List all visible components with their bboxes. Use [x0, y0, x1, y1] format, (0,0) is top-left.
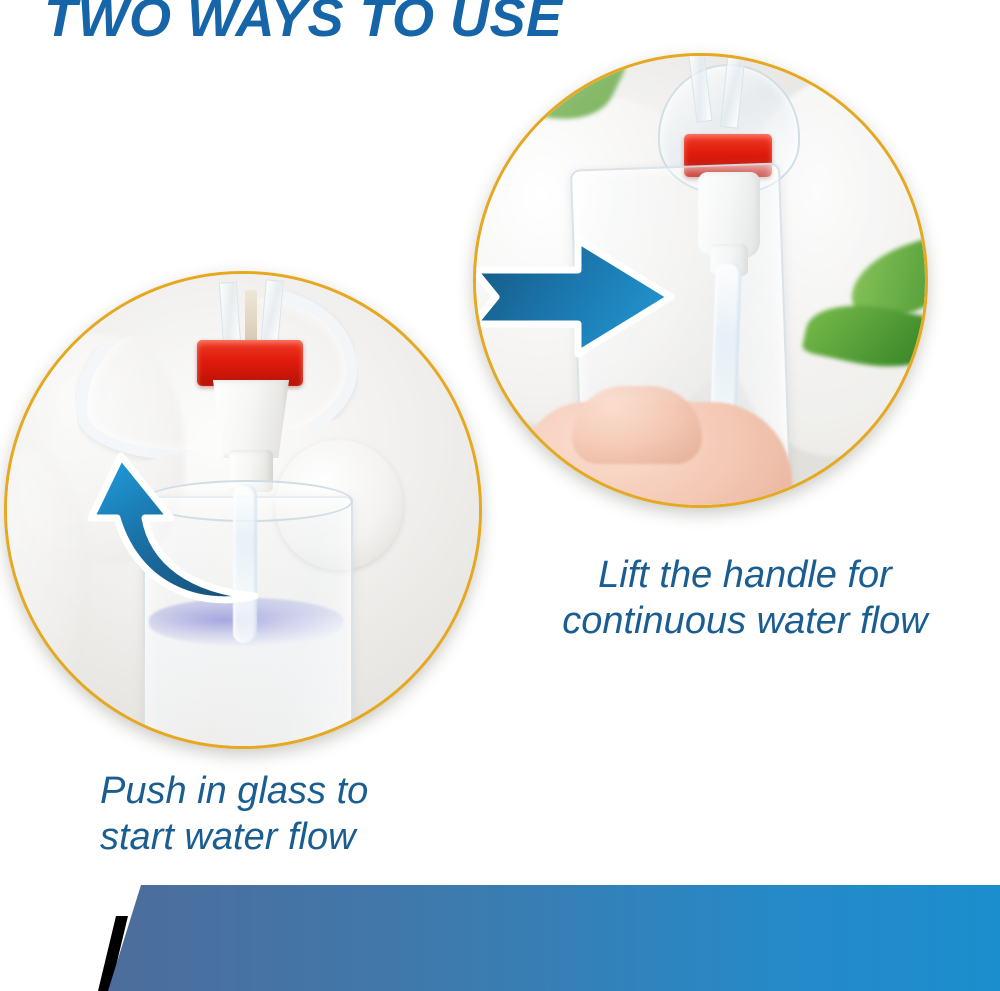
caption-lift-the-handle: Lift the handle for continuous water flo… — [500, 552, 990, 645]
photo-lift-the-handle — [476, 56, 925, 505]
caption-push-in-glass: Push in glass to start water flow — [100, 768, 500, 861]
water-stream — [233, 484, 257, 644]
scene-push-in-glass — [7, 274, 479, 746]
spigot-red-button — [197, 340, 303, 386]
scene-lift-the-handle — [476, 56, 925, 505]
page-title: TWO WAYS TO USE — [44, 0, 563, 47]
spigot-nozzle — [213, 380, 289, 458]
banner-gradient-bar — [108, 885, 1000, 991]
finger — [572, 386, 702, 464]
spigot-pin — [245, 290, 257, 342]
photo-panel-push-in-glass — [4, 271, 482, 749]
photo-push-in-glass — [7, 274, 479, 746]
bottom-banner — [0, 880, 1000, 991]
photo-panel-lift-the-handle — [473, 53, 928, 508]
